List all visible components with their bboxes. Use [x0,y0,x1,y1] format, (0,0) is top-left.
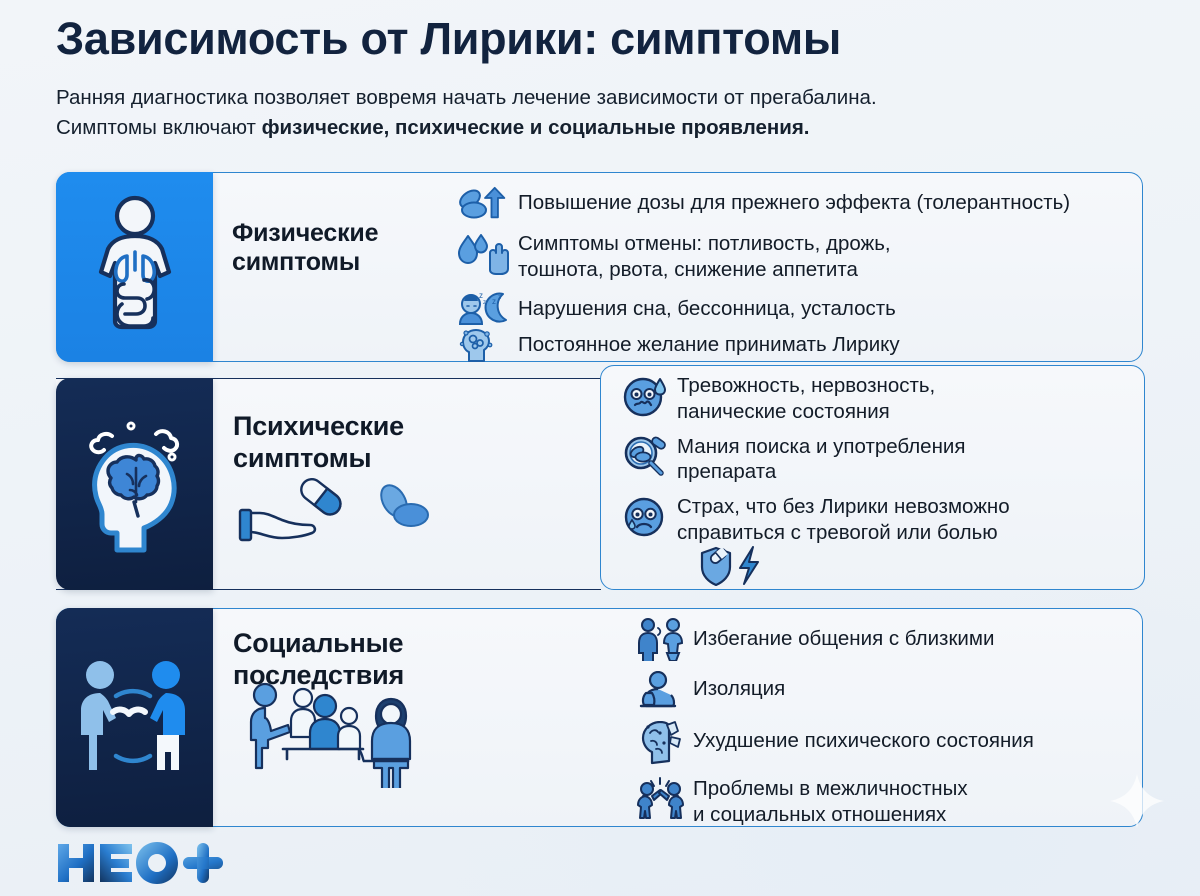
svg-text:z: z [498,294,501,301]
shield-pill-icon [702,547,730,585]
sleepless-face-moon-icon: z z z z [457,290,509,326]
list-item-label: Страх, что без Лирики невозможно справит… [677,494,1010,546]
card-social-center-icons [243,678,483,793]
list-item-label: Избегание общения с близкими [693,617,994,652]
list-item-label: Нарушения сна, бессонница, усталость [518,290,896,322]
magnifier-pills-icon [622,434,668,480]
human-body-organs-icon [80,192,190,342]
card-mental-bullets: Тревожность, нервозность, панические сос… [622,373,1142,546]
card-physical-bullets: Повышение дозы для прежнего эффекта (тол… [457,186,1137,363]
head-brain-icon [74,410,196,558]
list-item: Повышение дозы для прежнего эффекта (тол… [457,186,1137,220]
subtitle-line-2-plain: Симптомы включают [56,116,262,139]
list-item: Мания поиска и употребления препарата [622,434,1142,486]
page-subtitle: Ранняя диагностика позволяет вовремя нач… [56,83,1166,142]
card-mental-center-icons [238,465,468,560]
infographic-page: Зависимость от Лирики: симптомы Ранняя д… [0,0,1200,896]
two-people-handshake-icon [71,656,199,780]
avoiding-people-icon [636,617,684,661]
pills-arrow-up-icon [457,186,509,220]
list-item-label: Изоляция [693,671,785,702]
card-social-icon-panel [56,608,213,827]
list-item-label: Ухудшение психического состояния [693,721,1034,754]
list-item-label: Повышение дозы для прежнего эффекта (тол… [518,186,1070,216]
list-item-label: Тревожность, нервозность, панические сос… [677,373,935,425]
header: Зависимость от Лирики: симптомы Ранняя д… [56,14,1166,142]
list-item-label: Мания поиска и употребления препарата [677,434,965,486]
list-item: Постоянное желание принимать Лирику [457,329,1137,363]
list-item: Изоляция [636,671,1136,711]
deteriorating-mind-icon [636,721,684,765]
list-item-label: Симптомы отмены: потливость, дрожь, тошн… [518,230,891,283]
hand-holding-capsule-icon [240,475,345,540]
list-item: Тревожность, нервозность, панические сос… [622,373,1142,425]
list-item: z z z z Нарушения сна, бессонница, устал… [457,290,1137,326]
subtitle-line-1: Ранняя диагностика позволяет вовремя нач… [56,86,877,109]
subtitle-line-2-bold: физические, психические и социальные про… [262,116,810,139]
craving-head-icon [457,329,509,363]
sweat-drops-trembling-hand-icon [457,230,509,276]
person-sitting-alone-icon [636,671,684,711]
pills-cluster-icon [376,481,428,526]
list-item: Избегание общения с близкими [636,617,1136,661]
anxious-sweating-face-icon [622,373,668,419]
list-item: Страх, что без Лирики невозможно справит… [622,494,1142,546]
svg-text:z: z [492,297,496,306]
list-item: Симптомы отмены: потливость, дрожь, тошн… [457,230,1137,283]
lightning-bolt-icon [740,547,758,584]
list-item: Проблемы в межличностных и социальных от… [636,775,1136,828]
list-item: Ухудшение психического состояния [636,721,1136,765]
card-physical-title: Физические симптомы [232,219,447,278]
group-exclusion-scene-icon [243,678,483,788]
brand-logo [56,840,226,891]
list-item-label: Проблемы в межличностных и социальных от… [693,775,968,828]
worried-face-icon [622,494,668,540]
conflict-people-icon [636,775,684,819]
card-physical-icon-panel [56,172,213,362]
page-title: Зависимость от Лирики: симптомы [56,14,1166,64]
neo-plus-logo-icon [56,840,226,886]
svg-text:z: z [479,291,483,300]
card-mental-footer-icons [700,546,780,591]
card-mental-icon-panel [56,378,213,590]
card-social-bullets: Избегание общения с близкими Изоляция [636,617,1136,828]
list-item-label: Постоянное желание принимать Лирику [518,329,900,358]
